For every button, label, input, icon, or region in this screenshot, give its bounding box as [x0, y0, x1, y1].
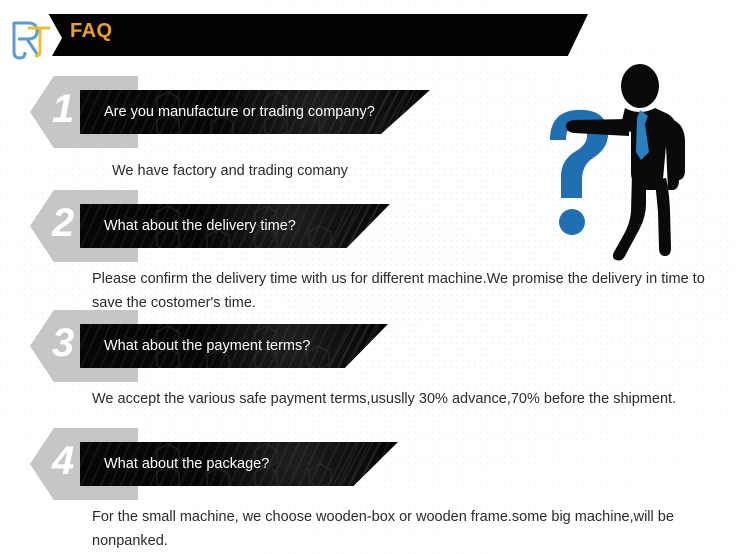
header-slash-2 [537, 14, 550, 56]
faq-page: FAQ [0, 0, 750, 554]
faq-question-text-3: What about the payment terms? [104, 338, 310, 354]
page-header: FAQ [0, 8, 750, 56]
faq-question-text-1: Are you manufacture or trading company? [104, 104, 375, 120]
rt-monogram-icon [4, 12, 54, 64]
faq-question-text-4: What about the package? [104, 456, 269, 472]
faq-question-text-2: What about the delivery time? [104, 218, 296, 234]
page-title: FAQ [70, 20, 113, 43]
faq-number-4: 4 [52, 434, 74, 488]
faq-number-3: 3 [52, 316, 74, 370]
faq-answer-3: We accept the various safe payment terms… [92, 387, 722, 411]
header-slash-decoration [520, 14, 590, 56]
faq-question-banner-4[interactable]: What about the package? [80, 442, 398, 486]
faq-number-1: 1 [52, 82, 74, 136]
faq-answer-1: We have factory and trading comany [112, 159, 712, 183]
header-slash-3 [550, 14, 563, 56]
faq-question-banner-3[interactable]: What about the payment terms? [80, 324, 388, 368]
faq-number-2: 2 [52, 196, 74, 250]
faq-answer-4: For the small machine, we choose wooden-… [92, 505, 707, 553]
faq-question-banner-2[interactable]: What about the delivery time? [80, 204, 390, 248]
header-slash-1 [524, 14, 537, 56]
faq-answer-2: Please confirm the delivery time with us… [92, 267, 717, 315]
faq-question-banner-1[interactable]: Are you manufacture or trading company? [80, 90, 430, 134]
